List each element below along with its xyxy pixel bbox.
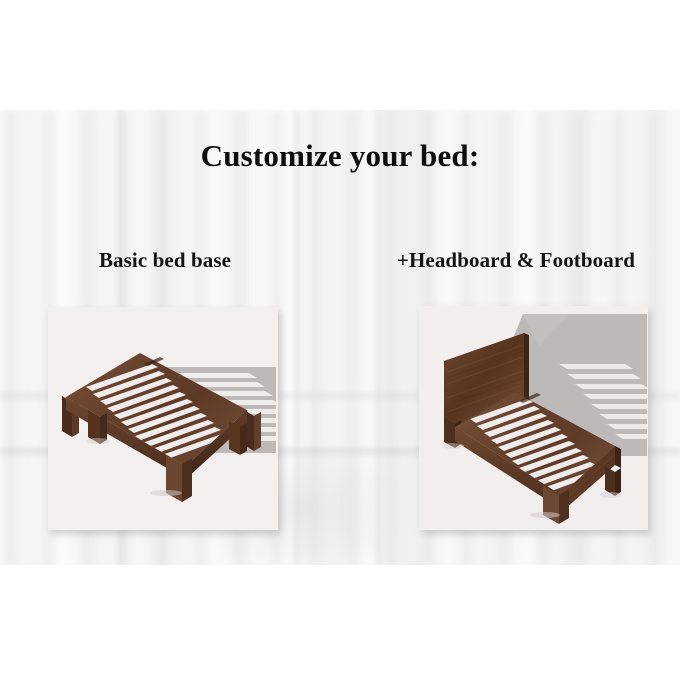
bed-base-illustration <box>48 307 278 530</box>
product-card-headboard-footboard[interactable] <box>419 306 648 530</box>
bed-headboard-footboard-illustration <box>419 306 648 530</box>
option-label-basic-bed-base: Basic bed base <box>36 248 294 272</box>
page-title: Customize your bed: <box>0 139 680 173</box>
slide-canvas: Customize your bed: Basic bed base +Head… <box>0 0 680 680</box>
option-label-headboard-footboard: +Headboard & Footboard <box>352 248 680 272</box>
product-card-basic-bed-base[interactable] <box>48 307 278 530</box>
